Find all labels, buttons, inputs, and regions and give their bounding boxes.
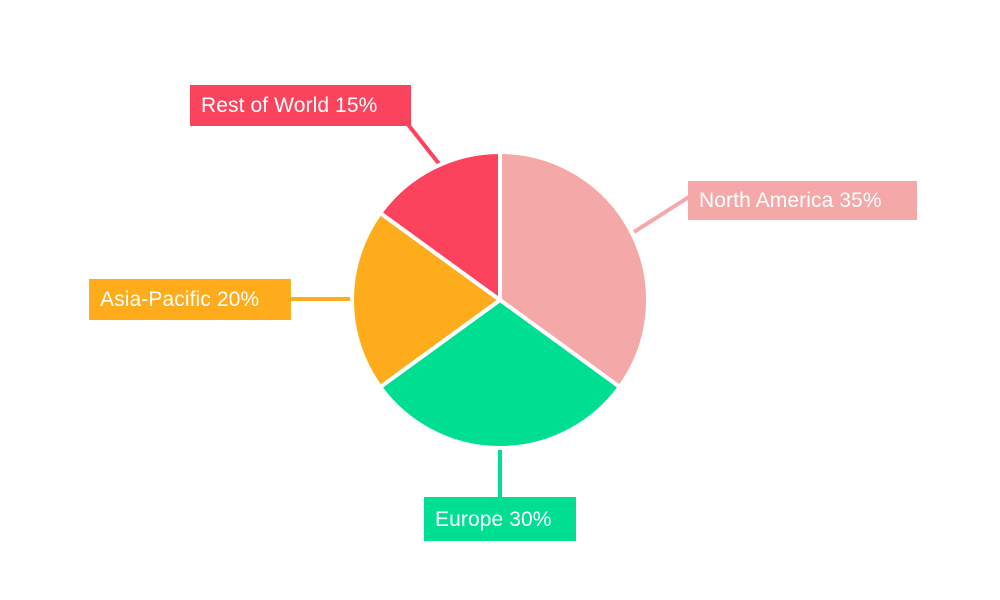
pie-chart-figure: Rest of World 15% North America 35% Asia… [0,0,1000,600]
pie-label-rest-of-world[interactable]: Rest of World 15% [190,85,411,126]
pie-label-europe[interactable]: Europe 30% [424,497,576,541]
pie-label-north-america[interactable]: North America 35% [688,181,917,220]
pie-label-text-rest-of-world: Rest of World 15% [201,95,377,116]
leader-line-rest-of-world [406,122,440,165]
pie-label-text-asia-pacific: Asia-Pacific 20% [100,289,259,310]
leader-line-north-america [634,195,692,232]
pie-label-text-europe: Europe 30% [435,509,552,530]
pie-label-asia-pacific[interactable]: Asia-Pacific 20% [89,279,291,320]
pie-label-text-north-america: North America 35% [699,190,882,211]
pie-slices [352,152,648,448]
